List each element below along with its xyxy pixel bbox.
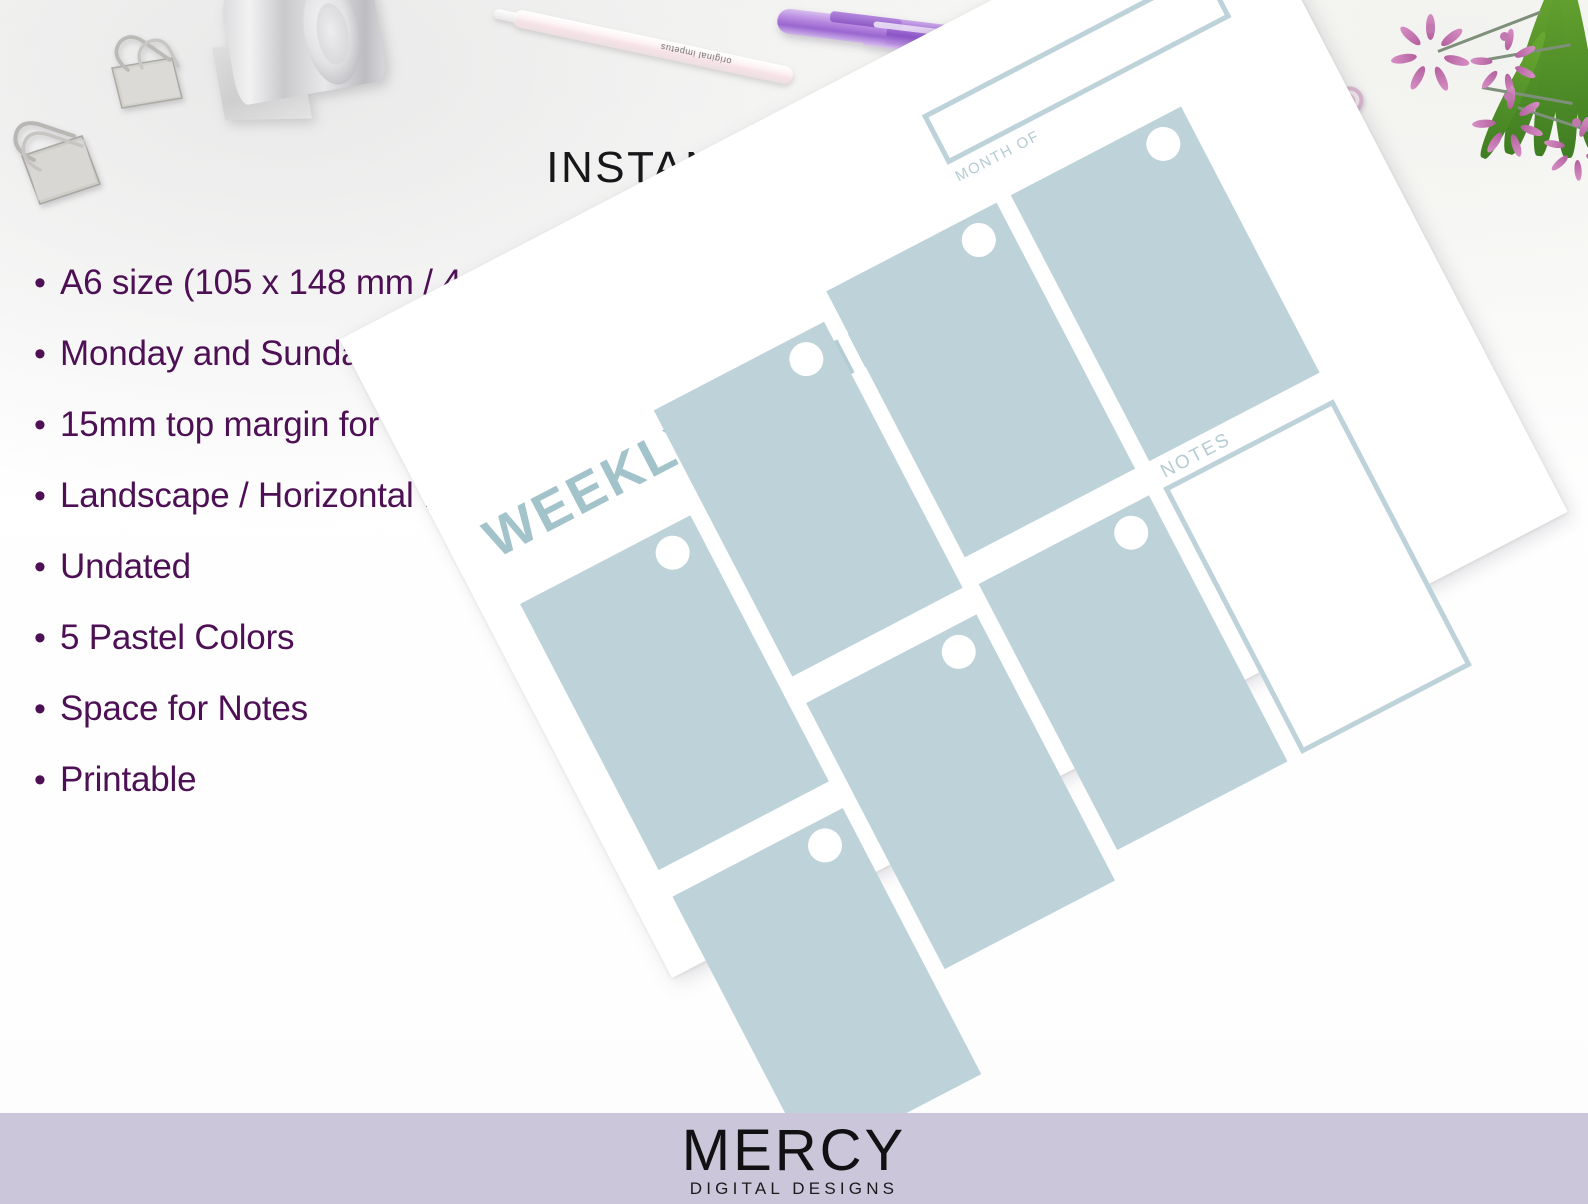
list-item-label: 5 Pastel Colors xyxy=(60,617,294,659)
bullet-icon: • xyxy=(34,759,60,801)
bullet-icon: • xyxy=(34,617,60,659)
list-item-label: Printable xyxy=(60,759,196,801)
footer-brand-bar: MERCY DIGITAL DESIGNS xyxy=(0,1113,1588,1204)
brand-name: MERCY xyxy=(0,1121,1588,1181)
binder-clip-icon xyxy=(98,28,204,120)
bullet-icon: • xyxy=(34,688,60,730)
list-item-label: Undated xyxy=(60,546,191,588)
bullet-icon: • xyxy=(34,262,60,304)
bullet-icon: • xyxy=(34,333,60,375)
bullet-icon: • xyxy=(34,546,60,588)
brand-logo: MERCY DIGITAL DESIGNS xyxy=(0,1121,1588,1199)
slide-canvas: original impetus xyxy=(0,0,1588,1204)
flower-arrangement xyxy=(1378,0,1588,154)
bullet-icon: • xyxy=(34,475,60,517)
brand-tagline: DIGITAL DESIGNS xyxy=(0,1179,1588,1199)
bullet-icon: • xyxy=(34,404,60,446)
list-item-label: Space for Notes xyxy=(60,688,308,730)
